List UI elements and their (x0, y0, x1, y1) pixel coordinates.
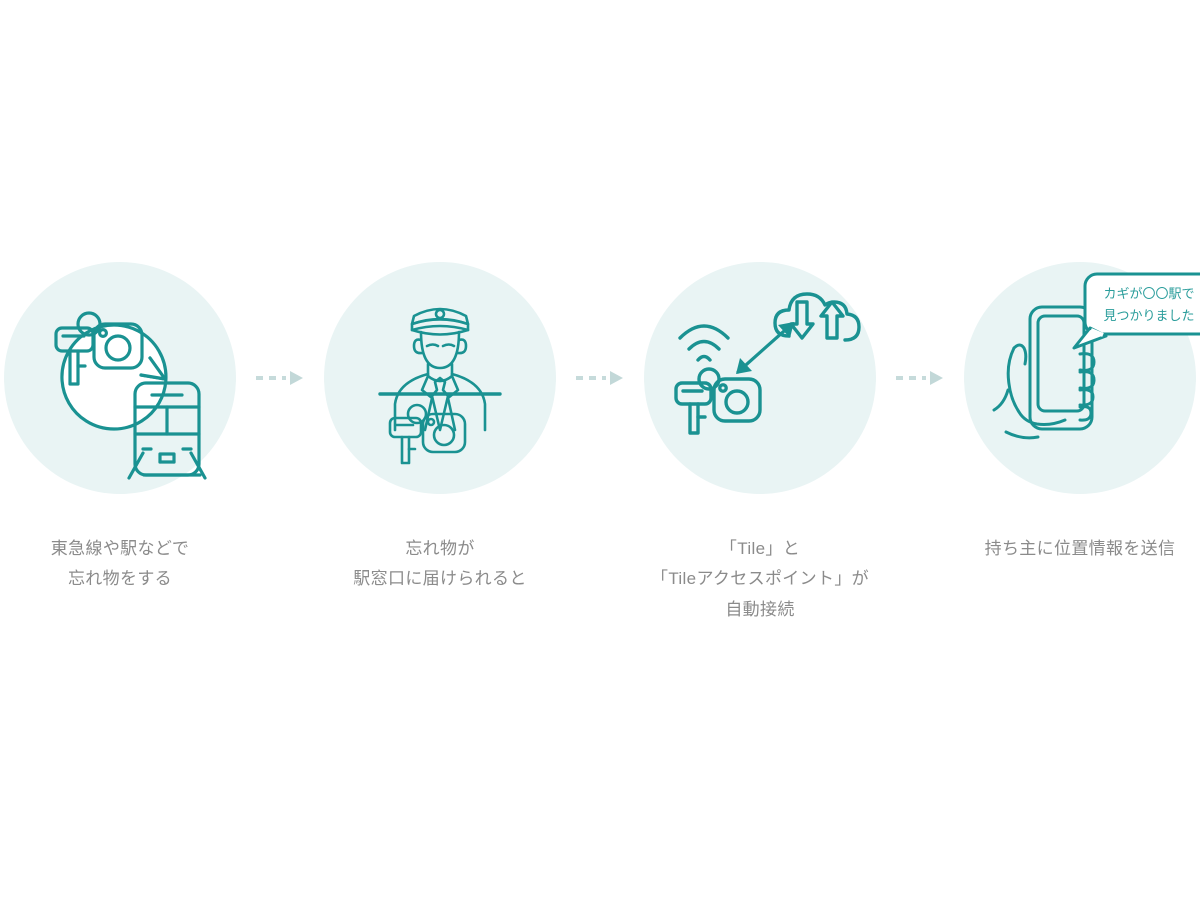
bubble-text-line-1: カギが〇〇駅で (1103, 286, 1194, 301)
keys-tile-speech-bubble-and-train-icon (4, 262, 236, 494)
step-1-lost-item: 東急線や駅などで 忘れ物をする (0, 262, 240, 595)
process-flow-row: 東急線や駅などで 忘れ物をする (0, 262, 1200, 625)
dashed-arrow-right-icon (894, 368, 946, 388)
infographic-canvas: 東急線や駅などで 忘れ物をする (0, 0, 1200, 900)
step-3-tile-auto-connect: 「Tile」と 「Tileアクセスポイント」が 自動接続 (640, 262, 880, 625)
step-2-caption: 忘れ物が 駅窓口に届けられると (290, 534, 590, 595)
step-2-circle (324, 262, 556, 494)
hand-holding-smartphone-with-notification-icon: カギが〇〇駅で 見つかりました (964, 262, 1196, 494)
speech-bubble: カギが〇〇駅で 見つかりました (1074, 274, 1200, 348)
bubble-text-line-2: 見つかりました (1103, 308, 1194, 323)
connector-3-4 (880, 262, 960, 494)
tile-cloud-sync-icon (644, 262, 876, 494)
step-1-caption: 東急線や駅などで 忘れ物をする (0, 534, 270, 595)
step-4-caption: 持ち主に位置情報を送信 (930, 534, 1200, 564)
step-4-notify-owner: カギが〇〇駅で 見つかりました 持ち主に位置情報を送信 (960, 262, 1200, 564)
step-3-caption: 「Tile」と 「Tileアクセスポイント」が 自動接続 (610, 534, 910, 625)
step-3-circle (644, 262, 876, 494)
dashed-arrow-right-icon (254, 368, 306, 388)
step-2-handed-to-station: 忘れ物が 駅窓口に届けられると (320, 262, 560, 595)
dashed-arrow-right-icon (574, 368, 626, 388)
connector-1-2 (240, 262, 320, 494)
step-4-circle: カギが〇〇駅で 見つかりました (964, 262, 1196, 494)
connector-2-3 (560, 262, 640, 494)
step-1-circle (4, 262, 236, 494)
station-staff-counter-with-keys-tile-icon (324, 262, 556, 494)
